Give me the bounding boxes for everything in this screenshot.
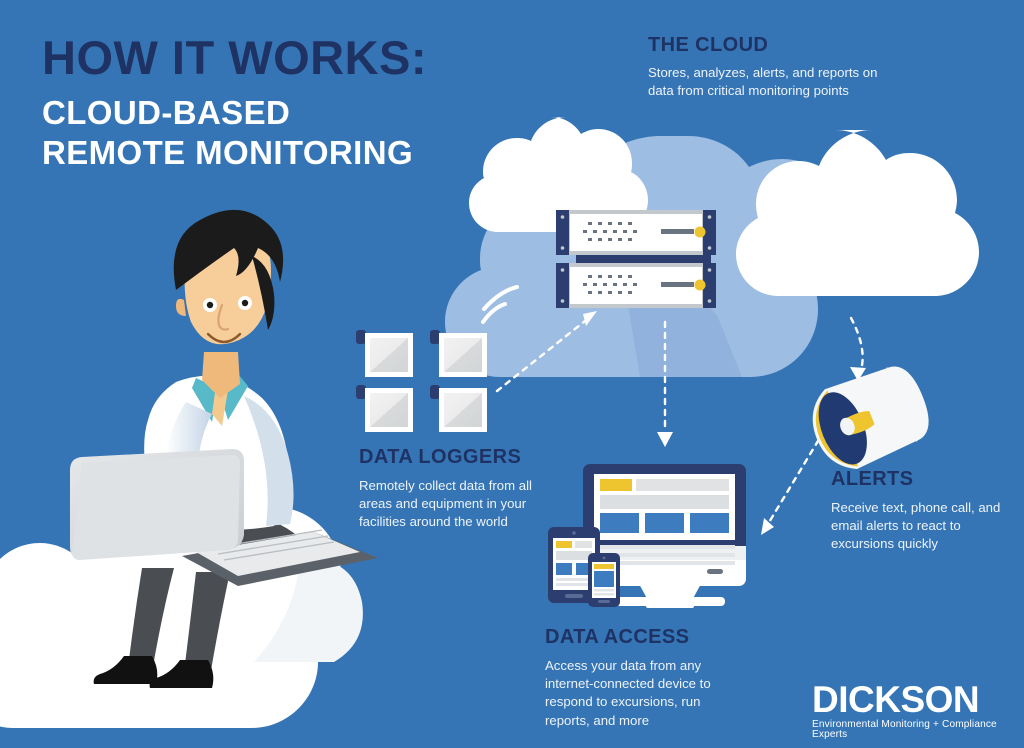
device-group (548, 464, 746, 608)
data-logger-3 (356, 385, 413, 432)
arrow-megaphone-to-devices (768, 431, 824, 524)
page-subtitle-line1: CLOUD-BASED (42, 93, 522, 133)
data-logger-4 (430, 385, 487, 432)
server-status-led-top (695, 227, 706, 238)
server-rack-bottom (556, 263, 716, 308)
section-title-the-cloud: THE CLOUD (648, 34, 878, 57)
server-status-led-bottom (695, 280, 706, 291)
section-data-access: DATA ACCESS Access your data from any in… (545, 626, 745, 730)
server-rack-top (556, 210, 716, 255)
logo-wordmark: DICKSON (812, 681, 1012, 718)
page-title: HOW IT WORKS: (42, 34, 522, 81)
section-the-cloud: THE CLOUD Stores, analyzes, alerts, and … (648, 34, 878, 100)
section-body-the-cloud: Stores, analyzes, alerts, and reports on… (648, 64, 878, 100)
server-gap-bar (576, 255, 711, 264)
section-body-data-loggers: Remotely collect data from all areas and… (359, 477, 549, 532)
megaphone-icon (801, 356, 939, 478)
page-subtitle: CLOUD-BASED REMOTE MONITORING (42, 93, 522, 174)
arrow-servers-to-megaphone (851, 318, 863, 370)
section-title-data-loggers: DATA LOGGERS (359, 446, 549, 469)
logo-tagline: Environmental Monitoring + Compliance Ex… (812, 720, 1012, 740)
page-title-block: HOW IT WORKS: CLOUD-BASED REMOTE MONITOR… (42, 34, 522, 174)
section-title-alerts: ALERTS (831, 468, 1016, 491)
brand-logo: DICKSON Environmental Monitoring + Compl… (812, 681, 1012, 740)
phone-device (588, 553, 620, 607)
page-subtitle-line2: REMOTE MONITORING (42, 133, 522, 173)
section-data-loggers: DATA LOGGERS Remotely collect data from … (359, 446, 549, 532)
section-body-alerts: Receive text, phone call, and email aler… (831, 499, 1016, 554)
data-logger-1 (356, 330, 413, 377)
section-title-data-access: DATA ACCESS (545, 626, 745, 649)
section-alerts: ALERTS Receive text, phone call, and ema… (831, 468, 1016, 554)
cloud-shape-right (736, 130, 979, 296)
data-logger-2 (430, 330, 487, 377)
infographic-canvas: HOW IT WORKS: CLOUD-BASED REMOTE MONITOR… (0, 0, 1024, 748)
section-body-data-access: Access your data from any internet-conne… (545, 657, 745, 730)
